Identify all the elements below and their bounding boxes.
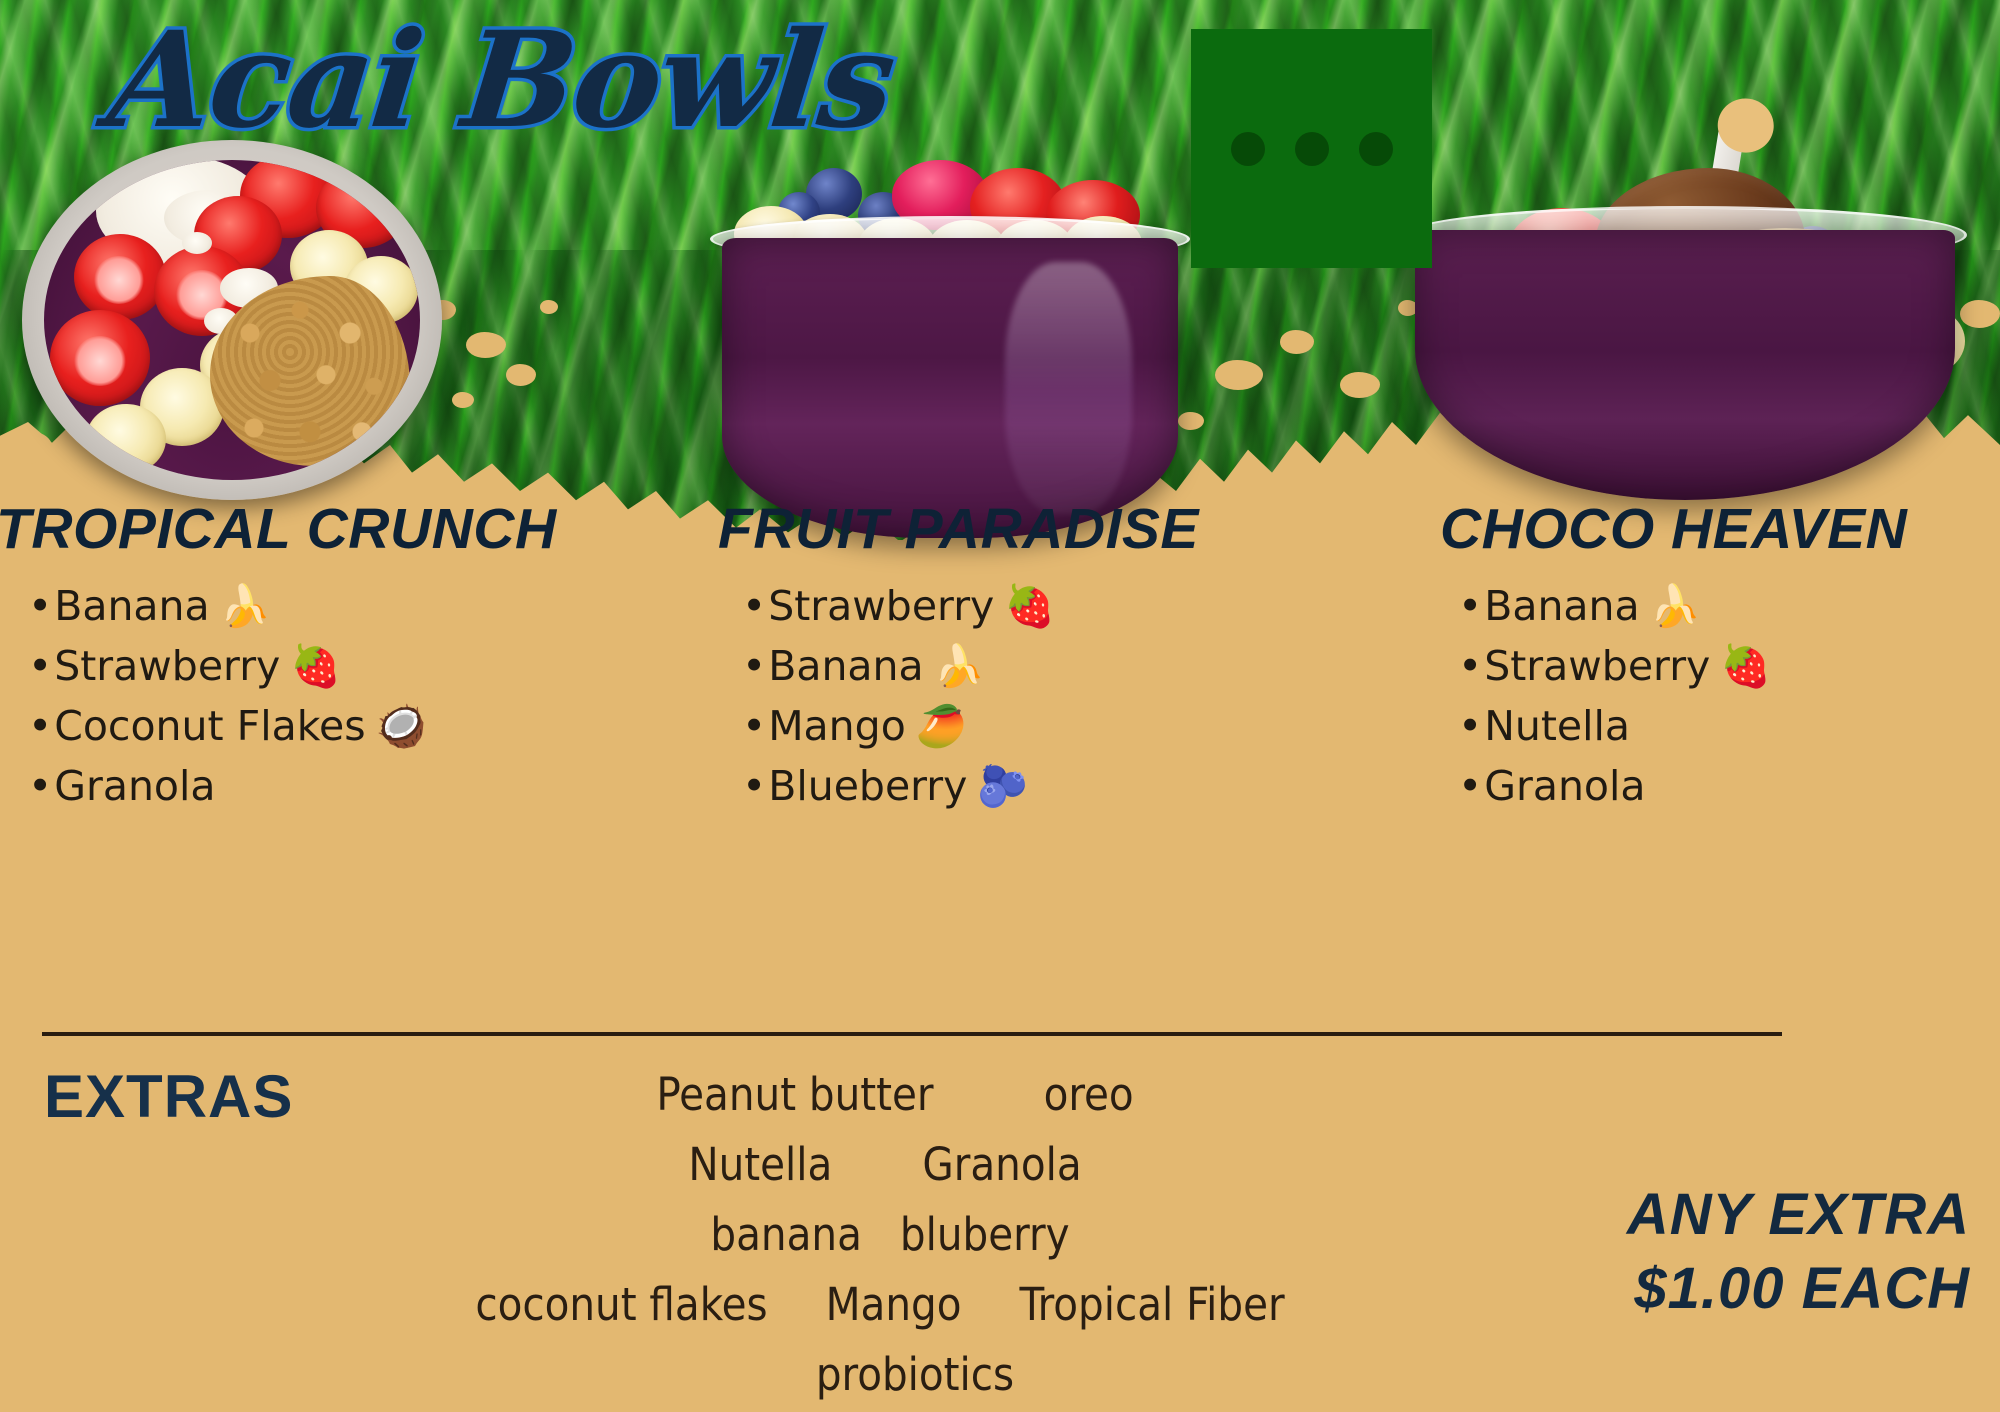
ingredient-label: Banana [54,582,209,630]
blueberry-emoji-icon: 🫐 [977,762,1028,810]
list-item: •Nutella [1458,696,2000,756]
menu-title-choco-heaven: CHOCO HEAVEN [1440,496,2000,562]
strawberry-emoji-icon: 🍓 [1720,642,1771,690]
ingredient-label: Mango [768,702,906,750]
bowl-image-choco-heaven [1395,110,1975,510]
bullet-icon: • [1458,642,1482,690]
bowl-image-tropical-crunch [22,140,442,500]
bullet-icon: • [742,642,766,690]
ingredient-list-choco-heaven: •Banana🍌 •Strawberry🍓 •Nutella •Granola [1458,576,2000,816]
list-item: •Banana🍌 [742,636,1320,696]
ingredient-label: Blueberry [768,762,967,810]
list-item: •Banana🍌 [1458,576,2000,636]
ellipsis-dot-1-icon [1231,132,1265,166]
list-item: •Banana🍌 [28,576,640,636]
extra-item: Granola [922,1130,1081,1200]
bullet-icon: • [742,582,766,630]
price-note: ANY EXTRA $1.00 EACH [1627,1178,1970,1326]
ingredient-label: Banana [1484,582,1639,630]
menu-title-tropical-crunch: TROPICAL CRUNCH [0,496,640,562]
price-line-2: $1.00 EACH [1627,1252,1970,1326]
bullet-icon: • [742,762,766,810]
bowl-contents [1415,230,1955,500]
ingredient-label: Strawberry [768,582,994,630]
extras-heading: EXTRAS [44,1062,293,1131]
ingredient-label: Granola [54,762,215,810]
bullet-icon: • [28,762,52,810]
ingredient-list-tropical-crunch: •Banana🍌 •Strawberry🍓 •Coconut Flakes🥥 •… [28,576,640,816]
extra-item: coconut flakes [475,1270,767,1340]
section-divider [42,1032,1782,1036]
banana-emoji-icon: 🍌 [220,582,271,630]
bullet-icon: • [28,582,52,630]
extra-item: Tropical Fiber [1019,1270,1284,1340]
list-item: •Granola [1458,756,2000,816]
extra-item: Peanut butter [656,1060,933,1130]
acai-bowls-poster: Acai Bowls [0,0,2000,1412]
bullet-icon: • [28,702,52,750]
extra-item: bluberry [900,1200,1070,1270]
list-item: •Coconut Flakes🥥 [28,696,640,756]
extras-row: banana bluberry [330,1200,1430,1270]
extras-list: Peanut butter oreo Nutella Granola banan… [330,1060,1430,1410]
bullet-icon: • [1458,582,1482,630]
more-options-button[interactable] [1191,29,1432,268]
banana-emoji-icon: 🍌 [1650,582,1701,630]
list-item: •Granola [28,756,640,816]
extras-row: Nutella Granola [330,1130,1430,1200]
list-item: •Strawberry🍓 [28,636,640,696]
mango-emoji-icon: 🥭 [916,702,967,750]
list-item: •Blueberry🫐 [742,756,1320,816]
list-item: •Strawberry🍓 [1458,636,2000,696]
extras-row: Peanut butter oreo [330,1060,1430,1130]
strawberry-emoji-icon: 🍓 [290,642,341,690]
ingredient-label: Coconut Flakes [54,702,365,750]
bowl-contents [722,238,1178,538]
menu-column-fruit-paradise: FRUIT PARADISE •Strawberry🍓 •Banana🍌 •Ma… [680,496,1320,816]
strawberry-emoji-icon: 🍓 [1004,582,1055,630]
menu-column-choco-heaven: CHOCO HEAVEN •Banana🍌 •Strawberry🍓 •Nute… [1440,496,2000,816]
bullet-icon: • [1458,702,1482,750]
extra-item: Nutella [688,1130,832,1200]
ingredient-label: Nutella [1484,702,1630,750]
ingredient-label: Banana [768,642,923,690]
ellipsis-dot-2-icon [1295,132,1329,166]
extras-row: probiotics [330,1340,1430,1410]
menu-column-tropical-crunch: TROPICAL CRUNCH •Banana🍌 •Strawberry🍓 •C… [0,496,640,816]
price-line-1: ANY EXTRA [1627,1178,1970,1252]
extra-item: oreo [1044,1060,1134,1130]
bowl-image-fruit-paradise [700,150,1200,550]
menu-columns: TROPICAL CRUNCH •Banana🍌 •Strawberry🍓 •C… [0,496,2000,1006]
coconut-emoji-icon: 🥥 [376,702,427,750]
poster-title-wrapper: Acai Bowls [110,6,1110,166]
ingredient-label: Strawberry [1484,642,1710,690]
bullet-icon: • [1458,762,1482,810]
list-item: •Strawberry🍓 [742,576,1320,636]
bullet-icon: • [28,642,52,690]
extras-row: coconut flakes Mango Tropical Fiber [330,1270,1430,1340]
extra-item: Mango [826,1270,962,1340]
page-title: Acai Bowls [102,6,1118,156]
banana-emoji-icon: 🍌 [934,642,985,690]
bowl-contents [44,160,420,480]
bullet-icon: • [742,702,766,750]
ingredient-label: Granola [1484,762,1645,810]
ingredient-label: Strawberry [54,642,280,690]
ellipsis-dot-3-icon [1359,132,1393,166]
menu-title-fruit-paradise: FRUIT PARADISE [718,496,1320,562]
ingredient-list-fruit-paradise: •Strawberry🍓 •Banana🍌 •Mango🥭 •Blueberry… [742,576,1320,816]
list-item: •Mango🥭 [742,696,1320,756]
extra-item: probiotics [816,1340,1014,1410]
extra-item: banana [710,1200,861,1270]
